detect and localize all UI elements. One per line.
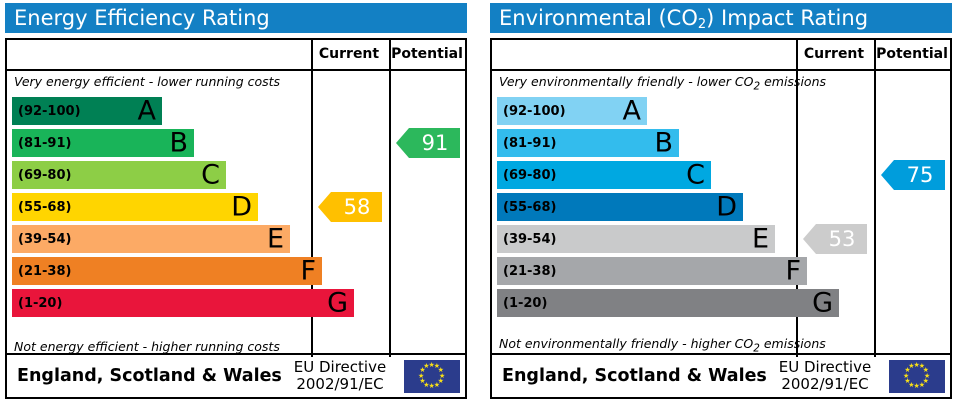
- band-range-label: (21-38): [18, 257, 71, 285]
- column-header-potential: Potential: [389, 40, 465, 69]
- chart-title: Energy Efficiency Rating: [5, 3, 467, 33]
- band-letter-label: E: [752, 226, 769, 253]
- rating-band-f: (21-38)F: [12, 257, 322, 285]
- eu-flag-icon: [889, 360, 945, 393]
- band-letter-label: G: [812, 290, 833, 317]
- column-header-current: Current: [311, 40, 387, 69]
- band-range-label: (69-80): [18, 161, 71, 189]
- band-letter-label: D: [231, 194, 252, 221]
- rating-band-g: (1-20)G: [12, 289, 354, 317]
- rating-band-e: (39-54)E: [12, 225, 290, 253]
- rating-band-c: (69-80)C: [12, 161, 226, 189]
- band-letter-label: B: [654, 130, 673, 157]
- directive-line-1: EU Directive: [766, 359, 884, 376]
- rating-table: CurrentPotentialVery energy efficient - …: [5, 38, 467, 399]
- band-range-label: (39-54): [18, 225, 71, 253]
- band-range-label: (39-54): [503, 225, 556, 253]
- band-chart-area: Very environmentally friendly - lower CO…: [492, 71, 950, 357]
- band-range-label: (55-68): [18, 193, 71, 221]
- current-rating-arrow: 53: [803, 224, 867, 254]
- band-range-label: (55-68): [503, 193, 556, 221]
- band-letter-label: F: [785, 258, 801, 285]
- chart-panel-co2-impact: Environmental (CO2) Impact RatingCurrent…: [485, 0, 957, 404]
- rating-band-d: (55-68)D: [497, 193, 743, 221]
- band-letter-label: D: [716, 194, 737, 221]
- epc-chart-page: Energy Efficiency RatingCurrentPotential…: [0, 0, 957, 404]
- rating-band-d: (55-68)D: [12, 193, 258, 221]
- band-letter-label: A: [138, 98, 156, 125]
- rating-band-a: (92-100)A: [497, 97, 647, 125]
- chart-title: Environmental (CO2) Impact Rating: [490, 3, 952, 33]
- band-range-label: (92-100): [18, 97, 81, 125]
- band-letter-label: C: [686, 162, 705, 189]
- rating-band-b: (81-91)B: [12, 129, 194, 157]
- rating-band-g: (1-20)G: [497, 289, 839, 317]
- band-letter-label: F: [300, 258, 316, 285]
- chart-footer: England, Scotland & WalesEU Directive200…: [492, 353, 950, 397]
- rating-band-b: (81-91)B: [497, 129, 679, 157]
- rating-band-c: (69-80)C: [497, 161, 711, 189]
- rating-band-e: (39-54)E: [497, 225, 775, 253]
- band-range-label: (92-100): [503, 97, 566, 125]
- table-header-row: CurrentPotential: [492, 40, 950, 71]
- table-header-row: CurrentPotential: [7, 40, 465, 71]
- current-rating-arrow: 58: [318, 192, 382, 222]
- footer-region-label: England, Scotland & Wales: [502, 355, 767, 397]
- column-header-potential: Potential: [874, 40, 950, 69]
- band-letter-label: E: [267, 226, 284, 253]
- chart-footer: England, Scotland & WalesEU Directive200…: [7, 353, 465, 397]
- band-range-label: (21-38): [503, 257, 556, 285]
- footer-eu-directive: EU Directive2002/91/EC: [281, 359, 399, 393]
- rating-table: CurrentPotentialVery environmentally fri…: [490, 38, 952, 399]
- note-efficient-top: Very environmentally friendly - lower CO…: [499, 74, 826, 93]
- band-range-label: (81-91): [503, 129, 556, 157]
- potential-rating-arrow: 75: [881, 160, 945, 190]
- note-inefficient-bottom: Not energy efficient - higher running co…: [14, 339, 280, 354]
- band-range-label: (81-91): [18, 129, 71, 157]
- eu-flag-icon: [404, 360, 460, 393]
- potential-rating-arrow: 91: [396, 128, 460, 158]
- footer-region-label: England, Scotland & Wales: [17, 355, 282, 397]
- directive-line-1: EU Directive: [281, 359, 399, 376]
- chart-panel-energy-efficiency: Energy Efficiency RatingCurrentPotential…: [0, 0, 472, 404]
- band-chart-area: Very energy efficient - lower running co…: [7, 71, 465, 357]
- band-range-label: (69-80): [503, 161, 556, 189]
- rating-band-a: (92-100)A: [12, 97, 162, 125]
- band-range-label: (1-20): [18, 289, 62, 317]
- directive-line-2: 2002/91/EC: [766, 376, 884, 393]
- band-letter-label: B: [169, 130, 188, 157]
- footer-eu-directive: EU Directive2002/91/EC: [766, 359, 884, 393]
- column-header-current: Current: [796, 40, 872, 69]
- band-letter-label: A: [623, 98, 641, 125]
- note-inefficient-bottom: Not environmentally friendly - higher CO…: [499, 336, 826, 355]
- note-efficient-top: Very energy efficient - lower running co…: [14, 74, 280, 89]
- band-letter-label: C: [201, 162, 220, 189]
- rating-band-f: (21-38)F: [497, 257, 807, 285]
- band-letter-label: G: [327, 290, 348, 317]
- directive-line-2: 2002/91/EC: [281, 376, 399, 393]
- band-range-label: (1-20): [503, 289, 547, 317]
